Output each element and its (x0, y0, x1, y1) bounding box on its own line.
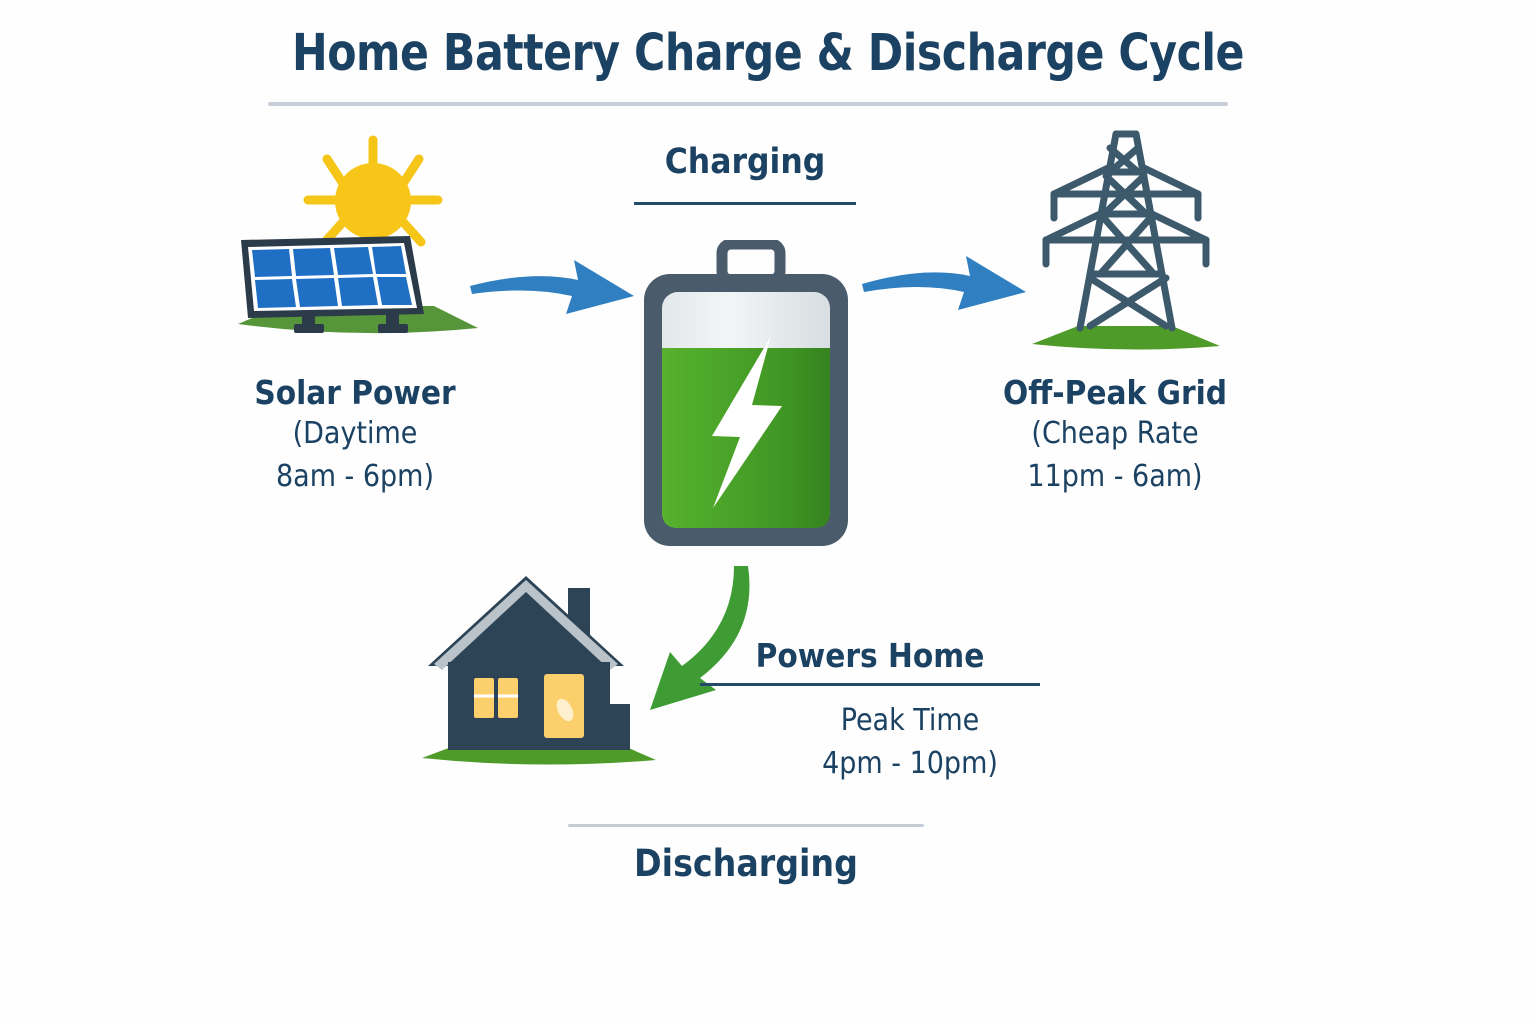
discharging-section-label: Discharging (546, 842, 946, 885)
grid-subline-1: (Cheap Rate (965, 413, 1265, 456)
charging-section-label: Charging (595, 142, 895, 182)
solar-heading: Solar Power (205, 372, 505, 413)
page-title: Home Battery Charge & Discharge Cycle (54, 24, 1482, 83)
grid-subline-2: 11pm - 6am) (965, 456, 1265, 499)
grid-heading: Off-Peak Grid (965, 372, 1265, 413)
peak-subline-2: 4pm - 10pm) (760, 743, 1060, 786)
infographic-canvas: Home Battery Charge & Discharge Cycle Ch… (0, 0, 1536, 1024)
peak-subline-1: Peak Time (760, 700, 1060, 743)
arrow-solar-to-battery (462, 252, 646, 336)
battery-charging-icon (636, 240, 860, 556)
solar-panel-with-sun-icon (228, 128, 488, 360)
solar-subline-1: (Daytime (205, 413, 505, 456)
solar-subline-2: 8am - 6pm) (205, 456, 505, 499)
discharging-divider (568, 824, 924, 827)
transmission-tower-icon (1020, 122, 1232, 352)
powers-home-label: Powers Home (720, 636, 1020, 675)
charging-underline (634, 202, 856, 205)
grid-caption: Off-Peak Grid (Cheap Rate 11pm - 6am) (965, 372, 1265, 498)
powers-home-underline (700, 683, 1040, 686)
peak-time-caption: Peak Time 4pm - 10pm) (760, 700, 1060, 785)
arrow-battery-to-grid (854, 246, 1038, 330)
house-icon (418, 558, 668, 776)
title-divider (268, 102, 1228, 106)
solar-caption: Solar Power (Daytime 8am - 6pm) (205, 372, 505, 498)
